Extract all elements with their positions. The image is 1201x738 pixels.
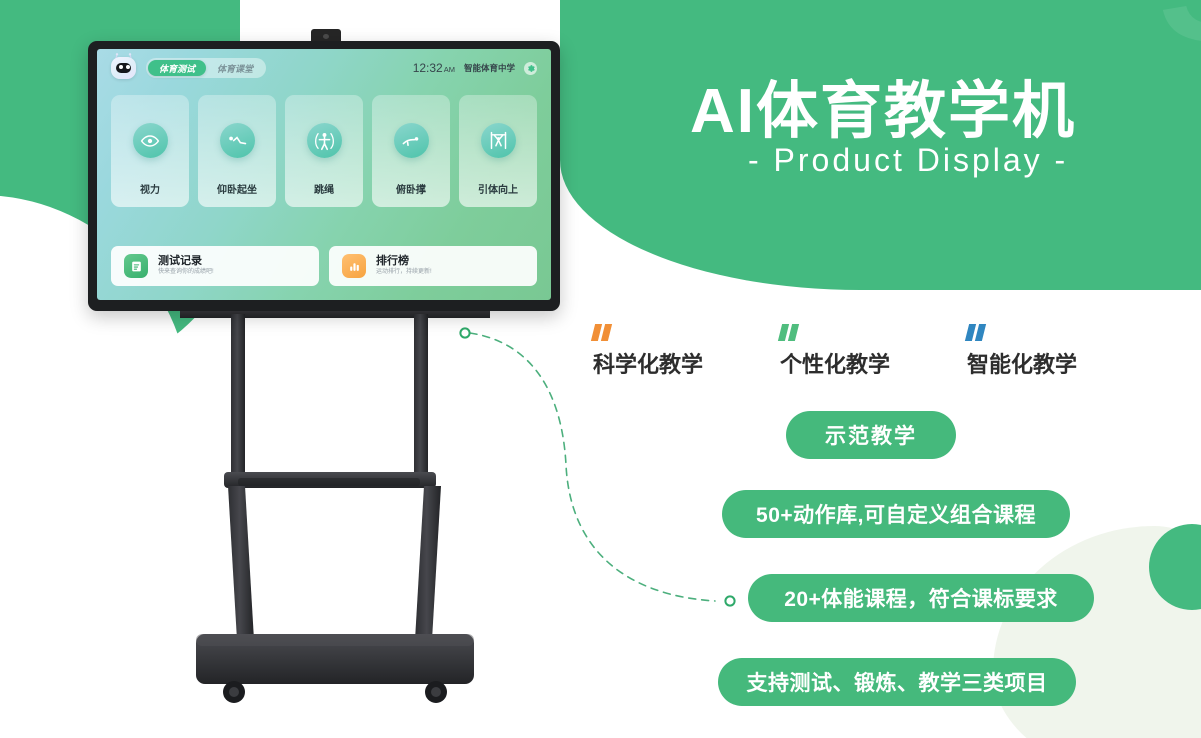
page-title: AI体育教学机 — [690, 60, 1076, 150]
screen-status-bar: 体育测试 体育课堂 12:32AM 智能体育中学 — [97, 49, 551, 87]
tab-sports-class[interactable]: 体育课堂 — [206, 60, 264, 76]
wide-card-test-records[interactable]: 测试记录 快来查询你的成绩吧! — [111, 246, 319, 286]
feature-item: 个性化教学 — [780, 324, 890, 379]
page-subtitle: - Product Display - — [748, 142, 1068, 179]
wide-card-subtitle: 运动排行，持续更新! — [376, 269, 432, 277]
feature-pill-action-library: 50+动作库,可自定义组合课程 — [722, 490, 1070, 538]
record-icon — [124, 254, 148, 278]
pushup-icon — [394, 123, 429, 158]
quote-mark-icon — [967, 324, 1077, 341]
mascot-antenna-icon — [114, 53, 133, 58]
screen-bottom-cards: 测试记录 快来查询你的成绩吧! 排行榜 运动排行，持续更新! — [111, 246, 537, 286]
feature-label: 个性化教学 — [780, 347, 890, 379]
wide-card-subtitle: 快来查询你的成绩吧! — [158, 269, 214, 277]
gear-icon[interactable] — [524, 62, 537, 75]
wide-card-title: 排行榜 — [376, 255, 432, 268]
clock-meridiem: AM — [444, 65, 455, 74]
ranking-icon — [342, 254, 366, 278]
robot-mascot-icon — [111, 57, 136, 79]
tv-cart-stand — [180, 300, 490, 712]
app-card-label: 仰卧起坐 — [217, 181, 257, 196]
school-name: 智能体育中学 — [464, 62, 515, 74]
clock-time: 12:32 — [413, 61, 443, 75]
screen-tab-group[interactable]: 体育测试 体育课堂 — [146, 58, 266, 78]
feature-item: 科学化教学 — [593, 324, 703, 379]
eye-icon — [133, 123, 168, 158]
feature-pill-three-categories: 支持测试、锻炼、教学三类项目 — [718, 658, 1076, 706]
tv-screen: 体育测试 体育课堂 12:32AM 智能体育中学 — [97, 49, 551, 300]
feature-label: 科学化教学 — [593, 347, 703, 379]
situp-icon — [220, 123, 255, 158]
app-card-pushup[interactable]: 俯卧撑 — [372, 95, 450, 207]
app-card-situp[interactable]: 仰卧起坐 — [198, 95, 276, 207]
feature-label: 智能化教学 — [967, 347, 1077, 379]
quote-mark-icon — [780, 324, 890, 341]
app-card-label: 引体向上 — [478, 181, 518, 196]
quote-mark-icon — [593, 324, 703, 341]
feature-pill-fitness-courses: 20+体能课程，符合课标要求 — [748, 574, 1094, 622]
tv-frame: 体育测试 体育课堂 12:32AM 智能体育中学 — [88, 41, 560, 311]
app-card-grid: 视力 仰卧起坐 — [111, 95, 537, 207]
app-card-label: 俯卧撑 — [396, 181, 426, 196]
clock: 12:32AM — [413, 61, 455, 75]
poster-stage: SPORTS AI体育教学机 - Product Display - 科学化教学… — [0, 0, 1201, 738]
app-card-label: 跳绳 — [314, 181, 334, 196]
jumprope-icon — [307, 123, 342, 158]
wide-card-title: 测试记录 — [158, 255, 214, 268]
wide-card-text: 排行榜 运动排行，持续更新! — [376, 255, 432, 276]
wide-card-ranking[interactable]: 排行榜 运动排行，持续更新! — [329, 246, 537, 286]
status-bar-right: 12:32AM 智能体育中学 — [413, 61, 537, 75]
tab-sports-test[interactable]: 体育测试 — [148, 60, 206, 76]
app-card-vision[interactable]: 视力 — [111, 95, 189, 207]
watermark-text: SPORTS — [1158, 0, 1201, 79]
pullup-icon — [481, 123, 516, 158]
wide-card-text: 测试记录 快来查询你的成绩吧! — [158, 255, 214, 276]
app-card-label: 视力 — [140, 181, 160, 196]
feature-pill-demo-teaching: 示范教学 — [786, 411, 956, 459]
app-card-jumprope[interactable]: 跳绳 — [285, 95, 363, 207]
app-card-pullup[interactable]: 引体向上 — [459, 95, 537, 207]
feature-item: 智能化教学 — [967, 324, 1077, 379]
